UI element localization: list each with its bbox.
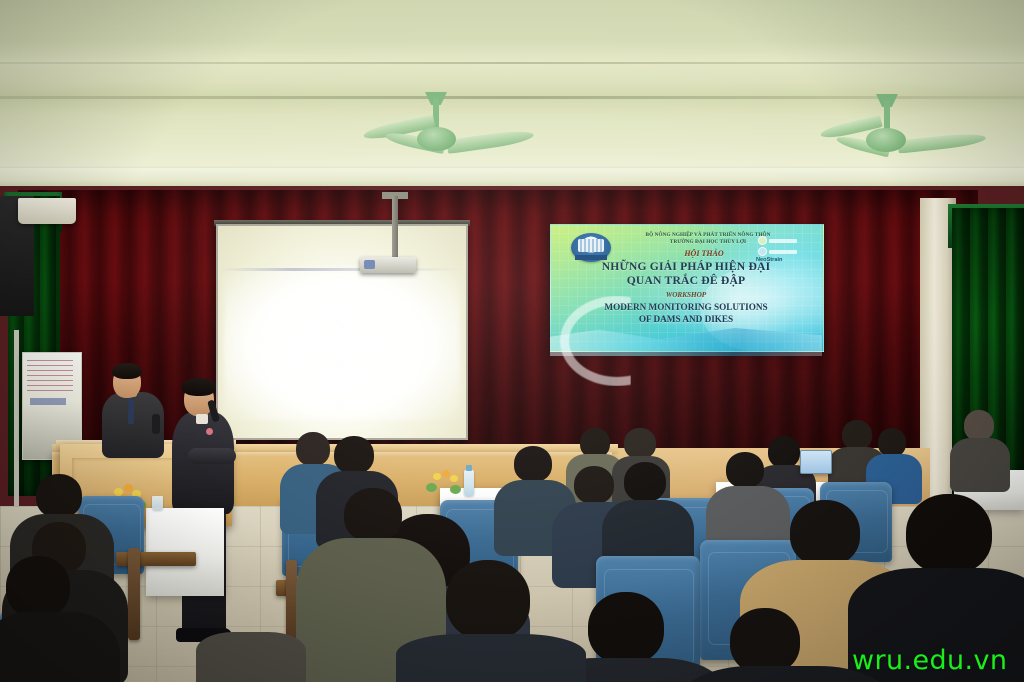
air-conditioner (18, 198, 76, 224)
projector-mount-arm (392, 196, 398, 258)
banner-org-line-2: TRƯỜNG ĐẠI HỌC THỦY LỢI (550, 240, 844, 245)
banner-title-vi-line-2: QUAN TRẮC ĐÊ ĐẬP (550, 275, 822, 287)
banner-title-en-line-2: OF DAMS AND DIKES (550, 315, 822, 324)
shirt-collar (196, 414, 208, 424)
ceiling-seam-line (0, 62, 1024, 64)
projection-slide-bar (220, 268, 464, 271)
microphone-icon (152, 414, 160, 434)
flipchart-writing (27, 360, 73, 394)
water-bottle (464, 470, 474, 496)
lapel-pin (206, 428, 213, 435)
projector-lens-icon (364, 260, 375, 269)
banner-org-line-1: BỘ NÔNG NGHIỆP VÀ PHÁT TRIỂN NÔNG THÔN (550, 233, 844, 238)
ceiling (0, 0, 1024, 186)
whiteboard-stand (14, 330, 19, 510)
laptop-screen (800, 450, 832, 474)
flipchart-highlight (30, 398, 66, 405)
photo-scene: BỘ NÔNG NGHIỆP VÀ PHÁT TRIỂN NÔNG THÔN T… (0, 0, 1024, 682)
ceiling-seam-line (0, 96, 1024, 99)
necktie (128, 398, 134, 424)
sponsor-logo-icon (758, 236, 797, 245)
sponsor-name: NeoStrain (756, 257, 782, 263)
flower-arrangement (424, 468, 468, 496)
chair-armrest (128, 548, 140, 640)
sponsor-logo-icon (758, 247, 797, 256)
banner-event-label-en: WORKSHOP (550, 292, 822, 299)
site-watermark: wru.edu.vn (852, 645, 1007, 676)
projection-light-glow (224, 268, 460, 420)
banner-title-en-line-1: MODERN MONITORING SOLUTIONS (550, 303, 822, 312)
arm-folded (188, 448, 236, 464)
drinking-glass (152, 496, 163, 510)
